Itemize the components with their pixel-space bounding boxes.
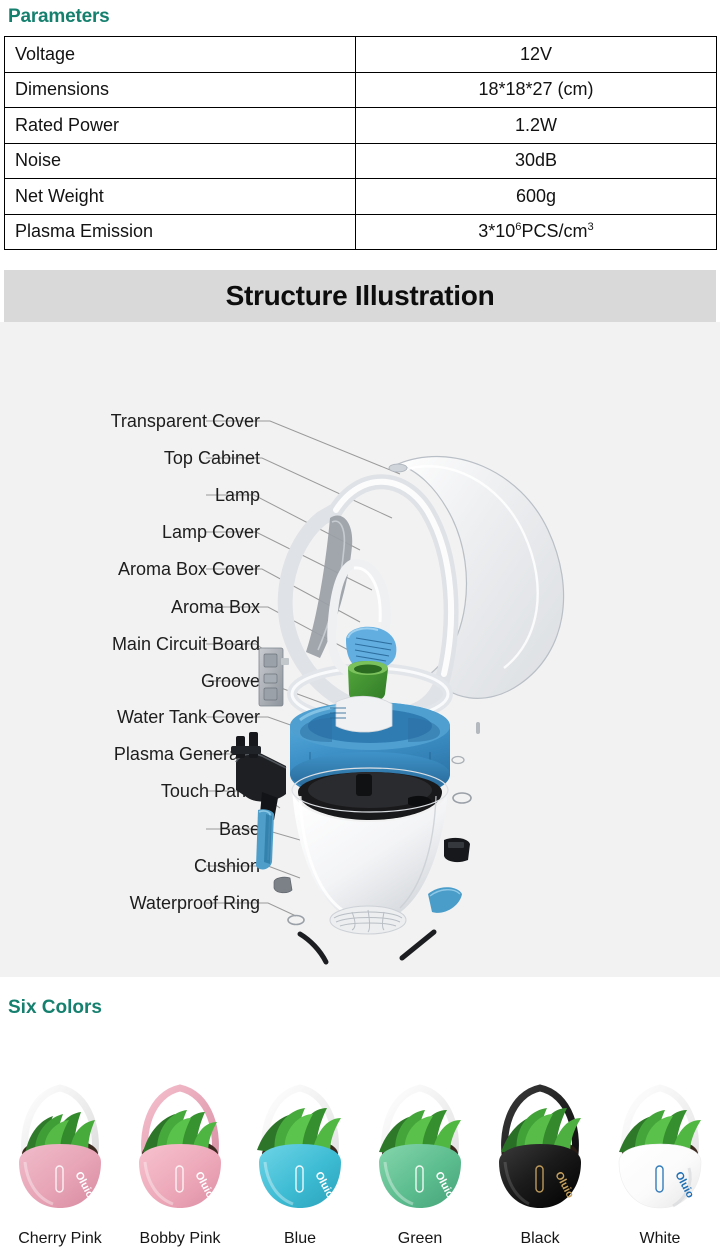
table-row: Plasma Emission 3*106PCS/cm3 [5, 214, 717, 250]
color-variant-bobby-pink[interactable]: Oluio Bobby Pink [120, 1048, 240, 1248]
param-label: Rated Power [5, 108, 356, 144]
exploded-product-illustration [0, 322, 720, 977]
product-image-white: Oluio [601, 1070, 719, 1228]
part-diffuser-fan [330, 906, 406, 934]
param-value: 18*18*27 (cm) [356, 72, 717, 108]
param-value-plasma: 3*106PCS/cm3 [356, 214, 717, 250]
page-title-six-colors: Six Colors [8, 997, 102, 1019]
color-label: Black [520, 1230, 559, 1248]
product-detail-page: Parameters Voltage 12V Dimensions 18*18*… [0, 0, 720, 1258]
table-row: Noise 30dB [5, 143, 717, 179]
color-variant-black[interactable]: Oluio Black [480, 1048, 600, 1248]
color-label: Blue [284, 1230, 316, 1248]
param-label: Dimensions [5, 72, 356, 108]
param-value: 1.2W [356, 108, 717, 144]
part-main-circuit-board [259, 648, 289, 706]
color-variant-blue[interactable]: Oluio Blue [240, 1048, 360, 1248]
color-variant-white[interactable]: Oluio White [600, 1048, 720, 1248]
structure-illustration-title: Structure Illustration [226, 280, 495, 312]
param-label: Net Weight [5, 179, 356, 215]
param-label: Voltage [5, 37, 356, 73]
structure-illustration-banner: Structure Illustration [4, 270, 716, 322]
param-value: 600g [356, 179, 717, 215]
table-row: Net Weight 600g [5, 179, 717, 215]
part-water-tank-cover [330, 696, 392, 732]
color-variants-row: Oluio Cherry Pink [0, 1048, 720, 1248]
structure-diagram: Transparent Cover Top Cabinet Lamp Lamp … [0, 322, 720, 977]
part-inner-chassis [298, 772, 442, 820]
product-image-green: Oluio [361, 1070, 479, 1228]
table-row: Rated Power 1.2W [5, 108, 717, 144]
part-plasma-generator [231, 732, 286, 820]
param-value: 12V [356, 37, 717, 73]
color-variant-cherry-pink[interactable]: Oluio Cherry Pink [0, 1048, 120, 1248]
part-touch-panel [256, 809, 274, 869]
color-label: Cherry Pink [18, 1230, 102, 1248]
parameters-table: Voltage 12V Dimensions 18*18*27 (cm) Rat… [4, 36, 717, 250]
color-label: Green [398, 1230, 442, 1248]
part-black-accessory [444, 838, 470, 862]
param-value: 30dB [356, 143, 717, 179]
color-variant-green[interactable]: Oluio Green [360, 1048, 480, 1248]
sup-exponent-3: 3 [588, 221, 594, 233]
color-label: Bobby Pink [140, 1230, 221, 1248]
table-row: Dimensions 18*18*27 (cm) [5, 72, 717, 108]
product-image-cherry-pink: Oluio [1, 1070, 119, 1228]
color-label: White [640, 1230, 681, 1248]
page-title-parameters: Parameters [8, 6, 110, 28]
param-label: Plasma Emission [5, 214, 356, 250]
param-label: Noise [5, 143, 356, 179]
product-image-bobby-pink: Oluio [121, 1070, 239, 1228]
product-image-black: Oluio [481, 1070, 599, 1228]
product-image-blue: Oluio [241, 1070, 359, 1228]
table-row: Voltage 12V [5, 37, 717, 73]
part-cushion [274, 877, 292, 893]
part-blue-clip [428, 887, 462, 913]
